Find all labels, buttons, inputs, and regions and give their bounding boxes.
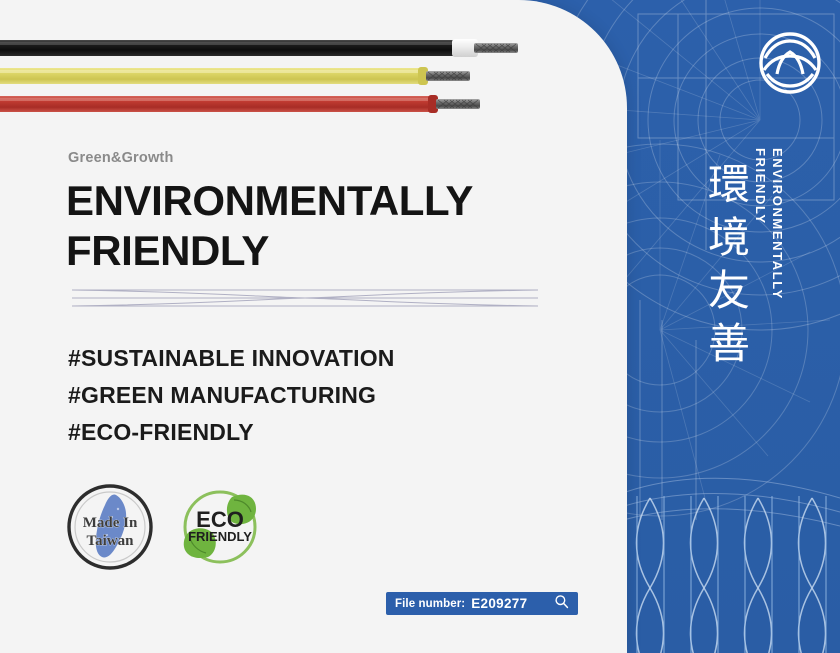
cjk-char-1: 環: [703, 158, 755, 211]
made-in-taiwan-line-2: Taiwan: [87, 533, 135, 549]
cjk-char-3: 友: [703, 264, 755, 317]
hashtag-item-1: #SUSTAINABLE INNOVATION: [68, 340, 395, 377]
headline-line-2: FRIENDLY: [66, 226, 586, 276]
eyebrow-label: Green&Growth: [68, 150, 174, 166]
crossing-lines-divider: [64, 278, 546, 316]
made-in-taiwan-badge: Made In Taiwan: [66, 483, 154, 576]
hashtag-list: #SUSTAINABLE INNOVATION #GREEN MANUFACTU…: [68, 340, 395, 451]
company-logo-icon: [757, 30, 823, 96]
eco-badge-line-2: FRIENDLY: [188, 529, 252, 544]
cable-illustration: [0, 0, 520, 130]
cjk-char-4: 善: [703, 317, 755, 370]
hashtag-item-3: #ECO-FRIENDLY: [68, 414, 395, 451]
certification-badges: Made In Taiwan ECO FRIENDLY: [66, 483, 286, 571]
poster-canvas: Green&Growth ENVIRONMENTALLY FRIENDLY #S…: [0, 0, 840, 653]
vertical-english-title: ENVIRONMENTALLY FRIENDLY: [752, 148, 786, 300]
magnifier-icon[interactable]: [554, 594, 569, 614]
file-number-label: File number:: [395, 598, 465, 610]
headline-line-1: ENVIRONMENTALLY: [66, 176, 586, 226]
eco-friendly-badge: ECO FRIENDLY: [176, 483, 264, 576]
cjk-title: 環 境 友 善: [703, 158, 755, 370]
file-number-bar[interactable]: File number: E209277: [386, 592, 578, 615]
made-in-taiwan-line-1: Made In: [83, 515, 138, 531]
cjk-char-2: 境: [703, 211, 755, 264]
hashtag-item-2: #GREEN MANUFACTURING: [68, 377, 395, 414]
page-title: ENVIRONMENTALLY FRIENDLY: [66, 176, 586, 276]
file-number-value: E209277: [471, 596, 527, 611]
